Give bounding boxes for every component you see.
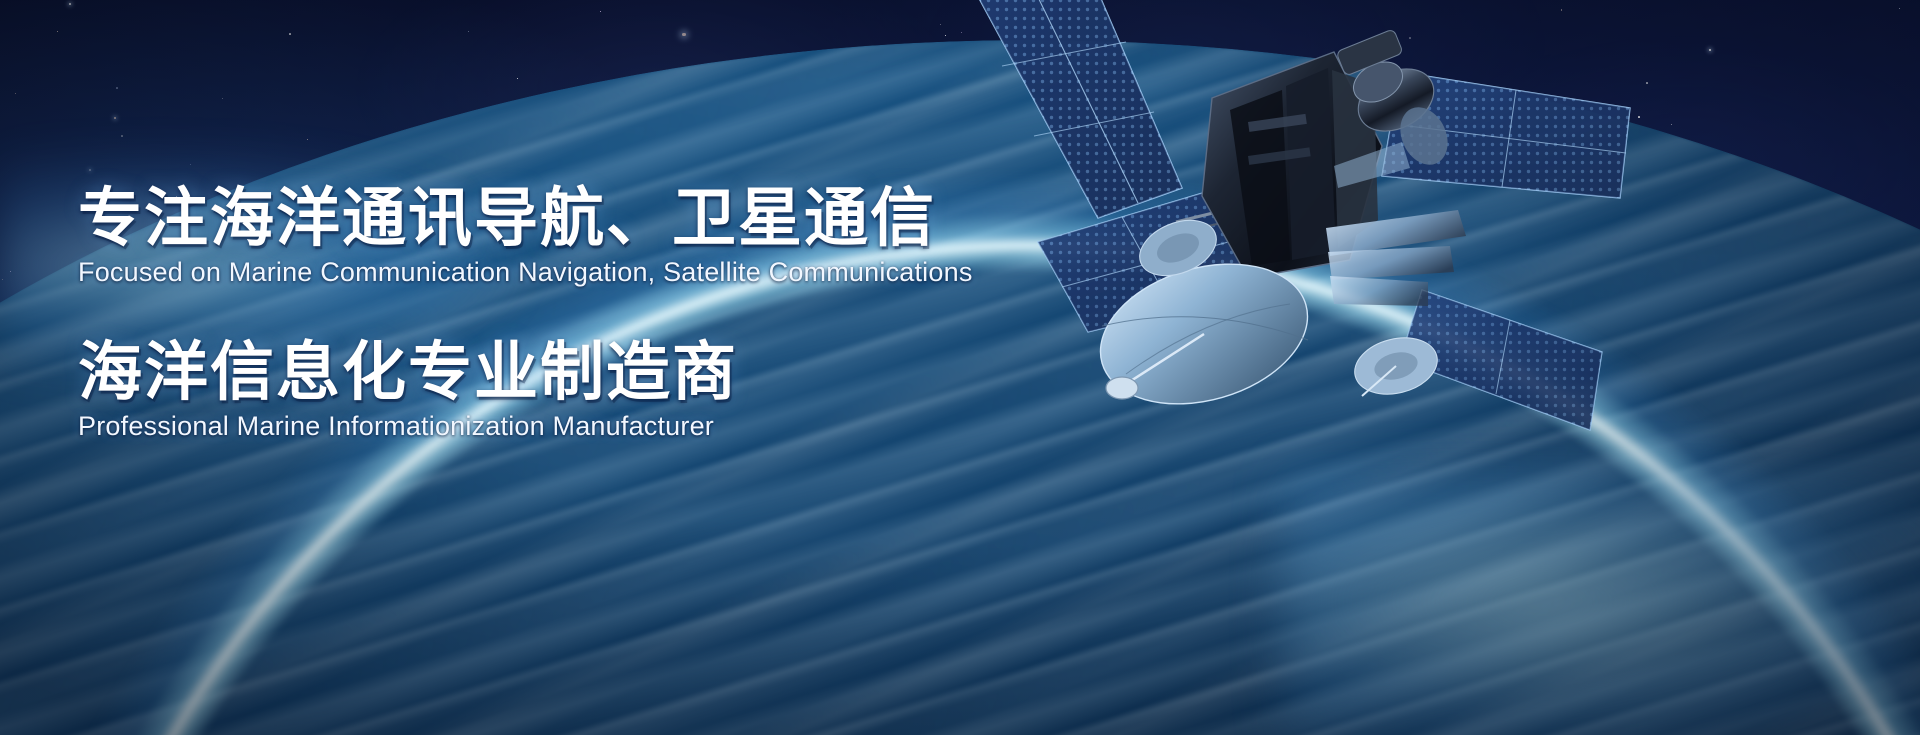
hero-headline-secondary: 海洋信息化专业制造商 xyxy=(78,340,1198,404)
hero-subhead-secondary: Professional Marine Informationization M… xyxy=(78,411,1198,442)
hero-banner: 专注海洋通讯导航、卫星通信 Focused on Marine Communic… xyxy=(0,0,1920,735)
hero-subhead-primary: Focused on Marine Communication Navigati… xyxy=(78,257,1198,288)
hero-headline-primary: 专注海洋通讯导航、卫星通信 xyxy=(78,186,1198,250)
hero-copy: 专注海洋通讯导航、卫星通信 Focused on Marine Communic… xyxy=(78,186,1198,442)
hero-copy-block-2: 海洋信息化专业制造商 Professional Marine Informati… xyxy=(78,340,1198,442)
hero-copy-block-1: 专注海洋通讯导航、卫星通信 Focused on Marine Communic… xyxy=(78,186,1198,288)
